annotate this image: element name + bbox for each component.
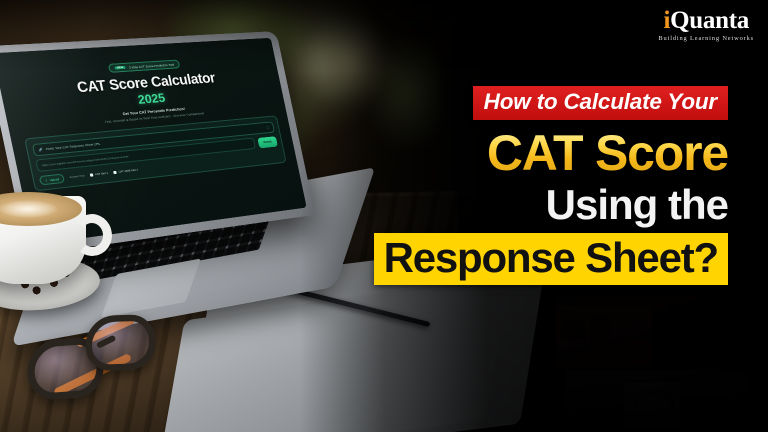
- screen-badge: NEW 3-Step CAT Score Prediction Tool: [108, 60, 181, 73]
- screen-badge-pill: NEW: [114, 65, 126, 69]
- logo-tagline: Building Learning Networks: [658, 35, 754, 42]
- headline-line-4: Response Sheet?: [374, 233, 728, 286]
- headline-line-1: How to Calculate Your: [473, 86, 728, 120]
- campus-building: [556, 296, 768, 432]
- building-shadow-overlay: [556, 296, 768, 432]
- logo-main-text: Quanta: [670, 7, 749, 34]
- thumbnail-canvas: NEW 3-Step CAT Score Prediction Tool CAT…: [0, 0, 768, 432]
- headline-block: How to Calculate Your CAT Score Using th…: [28, 86, 728, 285]
- headline-line-2: CAT Score: [28, 128, 728, 179]
- logo-wordmark: iQuanta: [658, 8, 754, 33]
- eyeglasses-lens-right: [84, 314, 156, 372]
- headline-line-3: Using the: [28, 183, 728, 227]
- iquanta-logo[interactable]: iQuanta Building Learning Networks: [658, 8, 754, 42]
- screen-badge-text: 3-Step CAT Score Prediction Tool: [129, 62, 175, 69]
